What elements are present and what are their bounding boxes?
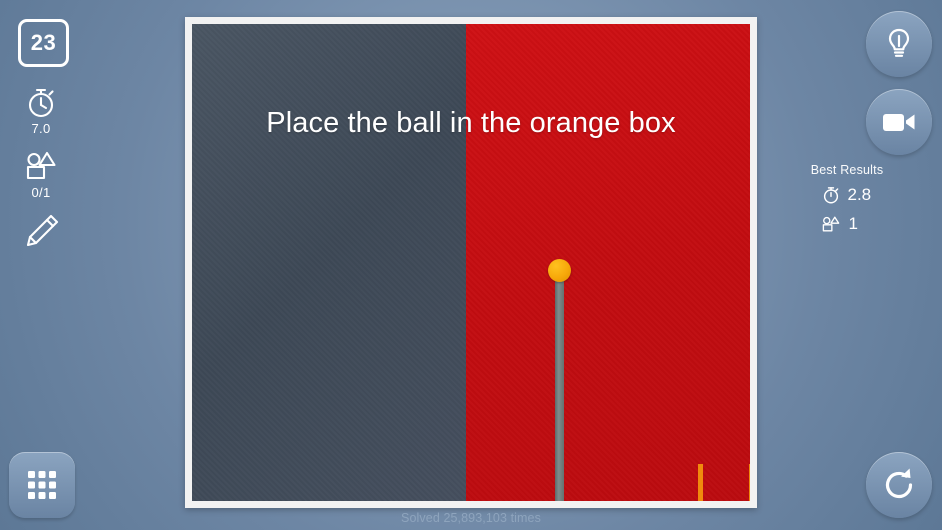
best-time-value: 2.8 <box>848 185 874 205</box>
stopwatch-icon <box>18 86 64 120</box>
left-panel-dark <box>192 24 466 501</box>
pole-object <box>555 272 564 501</box>
left-hud: 23 7.0 <box>0 0 185 530</box>
best-shapes-row: 1 <box>752 213 942 235</box>
draw-tool-button[interactable] <box>18 212 64 246</box>
right-panel-red <box>466 24 750 501</box>
video-button[interactable] <box>866 89 932 155</box>
best-results-panel: Best Results 2.8 <box>752 163 942 235</box>
grid-menu-icon[interactable] <box>25 468 59 502</box>
video-camera-icon[interactable] <box>879 108 919 136</box>
best-results-title: Best Results <box>752 163 942 177</box>
level-number: 23 <box>31 30 56 56</box>
solved-count-text: Solved 25,893,103 times <box>185 511 757 525</box>
restart-icon[interactable] <box>879 465 919 505</box>
shapes-hud: 0/1 <box>18 150 64 200</box>
menu-grid-button[interactable] <box>9 452 75 518</box>
stopwatch-icon <box>821 185 841 205</box>
play-area[interactable]: Place the ball in the orange box <box>192 24 750 501</box>
level-badge: 23 <box>18 19 69 67</box>
timer-value: 7.0 <box>18 121 64 136</box>
best-shapes-value: 1 <box>849 214 875 234</box>
orange-box-target <box>698 464 750 501</box>
goal-text: Place the ball in the orange box <box>192 107 750 140</box>
right-hud: Best Results 2.8 <box>752 0 942 530</box>
shapes-icon <box>18 150 64 184</box>
best-time-row: 2.8 <box>752 184 942 206</box>
ball-object <box>548 259 571 282</box>
shapes-value: 0/1 <box>18 185 64 200</box>
play-frame: Place the ball in the orange box <box>185 17 757 508</box>
timer-hud: 7.0 <box>18 86 64 136</box>
lightbulb-icon[interactable] <box>880 25 918 63</box>
restart-button[interactable] <box>866 452 932 518</box>
pencil-icon[interactable] <box>18 212 64 246</box>
shapes-icon <box>820 215 842 233</box>
hint-button[interactable] <box>866 11 932 77</box>
game-screen: 23 7.0 <box>0 0 942 530</box>
